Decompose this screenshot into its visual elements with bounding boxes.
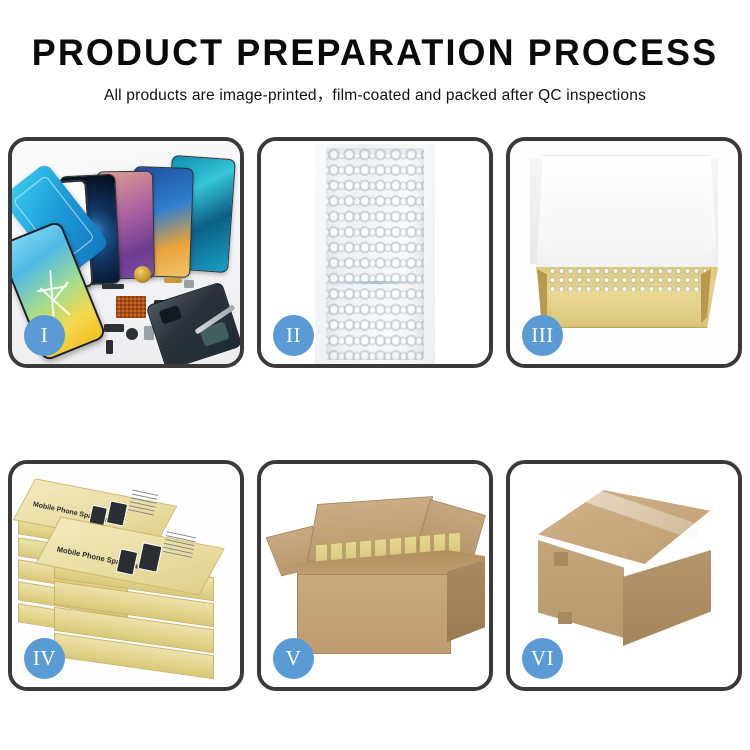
step-panel-ii: II	[257, 137, 493, 368]
kraft-box-front	[544, 291, 710, 325]
copper-grid-part	[116, 296, 146, 318]
metal-bracket-part	[184, 280, 194, 288]
page-header: PRODUCT PREPARATION PROCESS All products…	[0, 0, 750, 105]
foam-insert	[550, 193, 702, 267]
step-panel-vi: VI	[506, 460, 742, 691]
carton-seam-mark	[554, 552, 568, 566]
gold-flex-part	[164, 278, 182, 283]
crack-line	[49, 270, 54, 316]
wrap-seam	[323, 281, 427, 284]
sim-tray-part	[106, 340, 113, 354]
step-badge-v: V	[273, 638, 314, 679]
carton-front-face	[297, 574, 451, 654]
step-panel-i: I	[8, 137, 244, 368]
camera-module-part	[104, 324, 124, 332]
speaker-part	[134, 266, 151, 283]
crack-line	[51, 281, 68, 302]
step-panel-v: V	[257, 460, 493, 691]
flex-cable-part	[102, 284, 124, 289]
step-badge-i: I	[24, 315, 65, 356]
page-title: PRODUCT PREPARATION PROCESS	[11, 34, 739, 71]
process-steps-grid: I II III	[8, 137, 742, 691]
bubble-pattern-back	[326, 155, 424, 360]
carton-seam-mark	[558, 612, 572, 624]
step-panel-iv: Mobile Phone Spare Parts Mobile Phone Sp…	[8, 460, 244, 691]
step-panel-iii: III	[506, 137, 742, 368]
step-badge-iv: IV	[24, 638, 65, 679]
page-subtitle: All products are image-printed，film-coat…	[0, 83, 750, 105]
step-badge-ii: II	[273, 315, 314, 356]
step-badge-iii: III	[522, 315, 563, 356]
crack-line	[40, 288, 71, 316]
step-badge-vi: VI	[522, 638, 563, 679]
button-part	[126, 328, 138, 340]
